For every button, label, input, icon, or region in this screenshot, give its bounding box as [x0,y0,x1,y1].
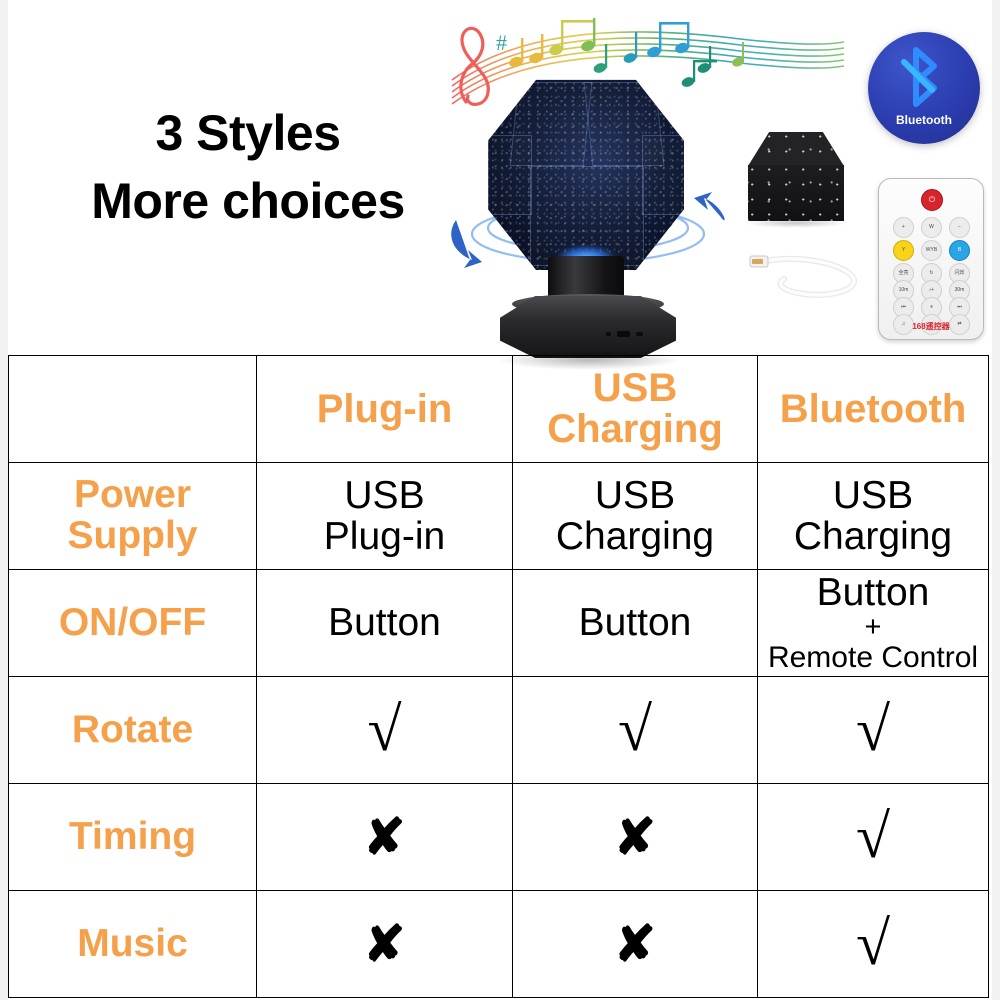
checkmark-icon: √ [762,913,984,975]
cell-power-supply-usb-charging: USB Charging [513,463,758,570]
hero-section: 3 Styles More choices [0,0,1000,355]
cell-timing-usb-charging: ✘ [513,784,758,891]
bluetooth-icon [898,46,950,108]
cell-music-plug-in: ✘ [257,891,513,998]
row-label-line-1: Music [77,922,188,965]
row-label-rotate: Rotate [9,677,257,784]
cross-icon: ✘ [261,919,508,969]
table-row-timing: Timing ✘ ✘ √ [9,784,989,891]
row-label-power-supply: Power Supply [9,463,257,570]
header-cell-usb-charging: USB Charging [513,356,758,463]
checkmark-icon: √ [261,699,508,761]
cross-icon: ✘ [261,812,508,862]
cell-rotate-usb-charging: √ [513,677,758,784]
checkmark-icon: √ [517,699,753,761]
remote-wyb-button: WYB [921,240,942,261]
globe-facet [488,135,532,215]
cell-power-supply-bluetooth: USB Charging [758,463,989,570]
table-row-power-supply: Power Supply USB Plug-in USB Charging [9,463,989,570]
remote-control-image: ⏻ + W − Y WYB B 全亮 ↻ 闪烁 10m ♪+ 30m ⏮ ⏸ ⏭… [878,178,984,340]
projector-globe [486,76,686,272]
header-label-bluetooth: Bluetooth [780,387,967,431]
header-label-charging: Charging [547,407,723,451]
checkmark-icon: √ [762,699,984,761]
box-lid [748,132,844,166]
usb-cable-image [748,246,868,306]
checkmark-icon: √ [762,806,984,868]
header-cell-bluetooth: Bluetooth [758,356,989,463]
star-projector-lamp-image [438,58,738,358]
remote-power-button: ⏻ [921,189,943,211]
feature-comparison-table: Plug-in USB Charging Bluetooth Power [8,355,989,998]
row-label-music: Music [9,891,257,998]
remote-minus-button: − [949,217,970,238]
globe-facet [642,135,686,215]
row-label-line-1: Power [74,473,191,516]
remote-b-button: B [949,240,970,261]
box-body [748,165,844,221]
projector-base [500,296,676,358]
row-label-line-1: Rotate [72,708,193,751]
headline-line-1: 3 Styles [48,100,448,168]
row-label-on-off: ON/OFF [9,570,257,677]
header-label-plug-in: Plug-in [317,387,453,431]
cross-icon: ✘ [517,919,753,969]
remote-y-button: Y [893,240,914,261]
row-label-line-1: ON/OFF [59,601,206,644]
cell-on-off-plug-in: Button [257,570,513,677]
remote-w-button: W [921,217,942,238]
table-row-music: Music ✘ ✘ √ [9,891,989,998]
row-label-line-2: Supply [67,514,197,557]
cell-rotate-bluetooth: √ [758,677,989,784]
gift-box-image [742,132,850,224]
bluetooth-badge-label: Bluetooth [868,113,980,127]
table-row-on-off: ON/OFF Button Button Button + Remote Con… [9,570,989,677]
headline-line-2: More choices [48,168,448,236]
row-label-timing: Timing [9,784,257,891]
cell-power-supply-plug-in: USB Plug-in [257,463,513,570]
cell-on-off-usb-charging: Button [513,570,758,677]
header-corner-cell [9,356,257,463]
svg-text:#: # [496,30,507,55]
headline: 3 Styles More choices [48,100,448,235]
header-cell-plug-in: Plug-in [257,356,513,463]
cell-music-bluetooth: √ [758,891,989,998]
remote-plus-button: + [893,217,914,238]
cross-icon: ✘ [517,812,753,862]
table-row-rotate: Rotate √ √ √ [9,677,989,784]
row-label-line-1: Timing [69,815,196,858]
remote-model-label: 168遥控器 [879,321,983,332]
projector-ports [606,330,644,337]
table-header-row: Plug-in USB Charging Bluetooth [9,356,989,463]
cell-timing-plug-in: ✘ [257,784,513,891]
product-comparison-infographic: 3 Styles More choices [0,0,1000,1000]
cell-music-usb-charging: ✘ [513,891,758,998]
bluetooth-badge: Bluetooth [868,32,980,144]
box-shadow [744,218,848,228]
cell-timing-bluetooth: √ [758,784,989,891]
cell-on-off-bluetooth: Button + Remote Control [758,570,989,677]
header-label-usb: USB [593,366,677,410]
cell-rotate-plug-in: √ [257,677,513,784]
